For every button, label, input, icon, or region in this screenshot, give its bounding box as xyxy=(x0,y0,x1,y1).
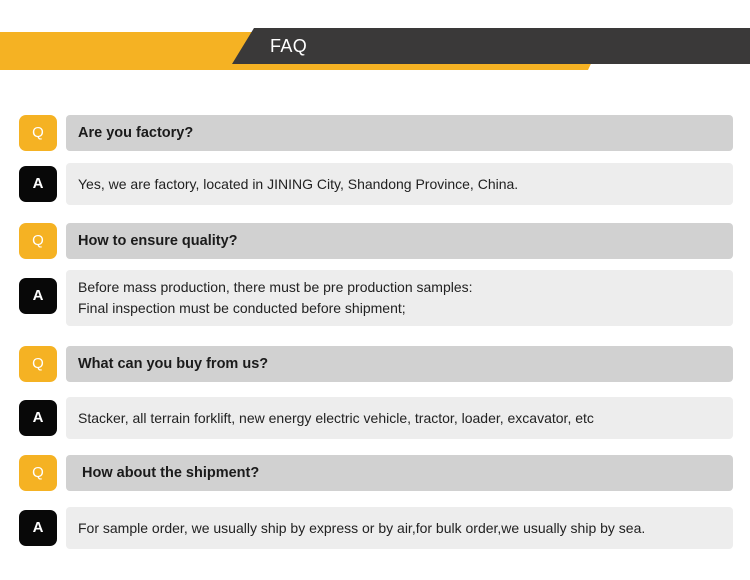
question-badge: Q xyxy=(19,346,57,382)
answer-bubble[interactable]: Yes, we are factory, located in JINING C… xyxy=(66,163,733,205)
page-title: FAQ xyxy=(270,28,307,64)
faq-question-row: Q How to ensure quality? xyxy=(0,200,750,254)
faq-question-row: Q Are you factory? xyxy=(0,92,750,146)
faq-question-row: Q What can you buy from us? xyxy=(0,326,750,380)
faq-page: FAQ Q Are you factory? A Yes, we are fac… xyxy=(0,0,750,580)
answer-text-line: For sample order, we usually ship by exp… xyxy=(78,518,733,539)
answer-text-line: Final inspection must be conducted befor… xyxy=(78,298,733,319)
answer-badge: A xyxy=(19,510,57,546)
answer-text-line: Yes, we are factory, located in JINING C… xyxy=(78,174,733,195)
faq-answer-row: A Yes, we are factory, located in JINING… xyxy=(0,146,750,200)
page-header: FAQ xyxy=(0,0,750,92)
question-text: How about the shipment? xyxy=(82,463,733,484)
answer-badge: A xyxy=(19,400,57,436)
question-text: What can you buy from us? xyxy=(78,354,733,375)
faq-answer-row: A Before mass production, there must be … xyxy=(0,254,750,326)
faq-answer-row: A Stacker, all terrain forklift, new ene… xyxy=(0,380,750,436)
answer-badge: A xyxy=(19,166,57,202)
answer-badge: A xyxy=(19,278,57,314)
faq-list: Q Are you factory? A Yes, we are factory… xyxy=(0,92,750,546)
answer-text-line: Stacker, all terrain forklift, new energ… xyxy=(78,408,733,429)
answer-bubble[interactable]: For sample order, we usually ship by exp… xyxy=(66,507,733,549)
question-text: How to ensure quality? xyxy=(78,231,733,252)
answer-bubble[interactable]: Stacker, all terrain forklift, new energ… xyxy=(66,397,733,439)
answer-text-line: Before mass production, there must be pr… xyxy=(78,277,733,298)
answer-bubble[interactable]: Before mass production, there must be pr… xyxy=(66,270,733,326)
header-dark-band xyxy=(232,28,750,64)
faq-answer-row: A For sample order, we usually ship by e… xyxy=(0,490,750,546)
question-text: Are you factory? xyxy=(78,123,733,144)
question-badge: Q xyxy=(19,455,57,491)
faq-question-row: Q How about the shipment? xyxy=(0,436,750,490)
question-bubble[interactable]: How about the shipment? xyxy=(66,455,733,491)
question-bubble[interactable]: What can you buy from us? xyxy=(66,346,733,382)
